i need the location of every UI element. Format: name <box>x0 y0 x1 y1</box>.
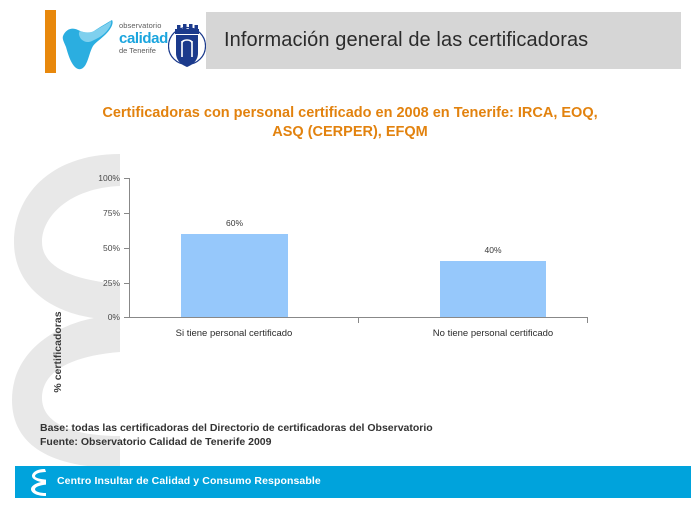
logo-wordmark: observatorio calidad de Tenerife <box>119 22 165 54</box>
y-tick-label-100: 100% <box>76 173 120 183</box>
cabildo-tenerife-crest-icon <box>168 19 206 73</box>
orange-accent-bar <box>45 10 56 73</box>
page-footer: Centro Insultar de Calidad y Consumo Res… <box>15 466 691 498</box>
x-tick-mark-right <box>587 318 588 323</box>
source-notes: Base: todas las certificadoras del Direc… <box>40 421 433 449</box>
chart-title: Certificadoras con personal certificado … <box>40 104 660 142</box>
y-tick-label-0: 0% <box>76 312 120 322</box>
bar-no-tiene-personal-certificado[interactable] <box>440 261 546 317</box>
bar-si-tiene-personal-certificado[interactable] <box>181 234 288 317</box>
bar-value-label-1: 40% <box>440 245 546 255</box>
bar-value-label-0: 60% <box>181 218 288 228</box>
note-source: Fuente: Observatorio Calidad de Tenerife… <box>40 435 433 449</box>
y-tick-label-75: 75% <box>76 208 120 218</box>
y-axis-title: % certificadoras <box>52 292 64 412</box>
x-tick-mark-mid <box>358 318 359 323</box>
logo-line-observatorio: observatorio <box>119 22 165 30</box>
y-tick-label-25: 25% <box>76 278 120 288</box>
x-category-label-0: Si tiene personal certificado <box>144 328 324 339</box>
header-title-band: Información general de las certificadora… <box>206 12 681 69</box>
logo-line-calidad: calidad <box>119 31 165 46</box>
y-axis-line <box>129 178 130 317</box>
note-base: Base: todas las certificadoras del Direc… <box>40 421 433 435</box>
bar-chart: % certificadoras 100% 75% 50% 25% 0% 60%… <box>0 160 700 360</box>
x-category-label-1: No tiene personal certificado <box>403 328 583 339</box>
page-header: observatorio calidad de Tenerife Informa… <box>0 0 700 86</box>
y-tick-label-50: 50% <box>76 243 120 253</box>
footer-label: Centro Insultar de Calidad y Consumo Res… <box>57 475 321 487</box>
chart-title-line-1: Certificadoras con personal certificado … <box>40 104 660 123</box>
page-title: Información general de las certificadora… <box>206 29 588 52</box>
chart-title-line-2: ASQ (CERPER), EFQM <box>40 123 660 142</box>
tenerife-island-logo-icon <box>60 14 118 72</box>
logo-line-tenerife: de Tenerife <box>119 47 165 55</box>
squiggle-icon <box>29 468 51 497</box>
